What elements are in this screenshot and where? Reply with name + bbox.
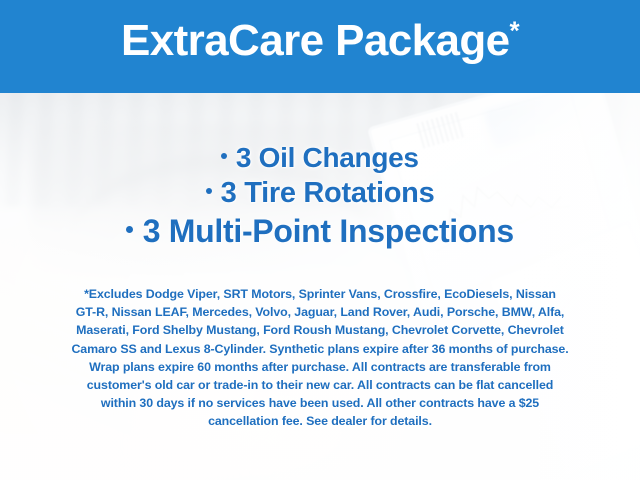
disclaimer-line: within 30 days if no services have been … [22, 394, 618, 412]
disclaimer-line: customer's old car or trade-in to their … [22, 376, 618, 394]
benefits-list: 3 Oil Changes 3 Tire Rotations 3 Multi-P… [0, 141, 640, 251]
bullet-dot-icon [126, 226, 133, 233]
bullet-dot-icon [206, 188, 212, 194]
extracare-promo-banner: ExtraCare Package* 3 Oil Changes 3 Tire … [0, 0, 640, 480]
disclaimer-line: *Excludes Dodge Viper, SRT Motors, Sprin… [22, 285, 618, 303]
disclaimer-line: GT-R, Nissan LEAF, Mercedes, Volvo, Jagu… [22, 303, 618, 321]
disclaimer-line: Camaro SS and Lexus 8-Cylinder. Syntheti… [22, 340, 618, 358]
page-title-text: ExtraCare Package [121, 16, 510, 65]
benefit-item-multi-point-inspections: 3 Multi-Point Inspections [0, 211, 640, 251]
disclaimer-text: *Excludes Dodge Viper, SRT Motors, Sprin… [22, 285, 618, 431]
benefit-label: 3 Oil Changes [236, 142, 419, 173]
disclaimer-line: Wrap plans expire 60 months after purcha… [22, 358, 618, 376]
disclaimer-line: cancellation fee. See dealer for details… [22, 412, 618, 430]
benefit-item-oil-changes: 3 Oil Changes [0, 141, 640, 175]
disclaimer-line: Maserati, Ford Shelby Mustang, Ford Rous… [22, 321, 618, 339]
banner-content: 3 Oil Changes 3 Tire Rotations 3 Multi-P… [0, 93, 640, 480]
benefit-item-tire-rotations: 3 Tire Rotations [0, 175, 640, 211]
page-title: ExtraCare Package* [0, 17, 640, 65]
header-band: ExtraCare Package* [0, 0, 640, 93]
bullet-dot-icon [221, 153, 227, 159]
benefit-label: 3 Tire Rotations [221, 177, 435, 209]
benefit-label: 3 Multi-Point Inspections [143, 213, 514, 249]
page-title-asterisk: * [509, 15, 519, 45]
